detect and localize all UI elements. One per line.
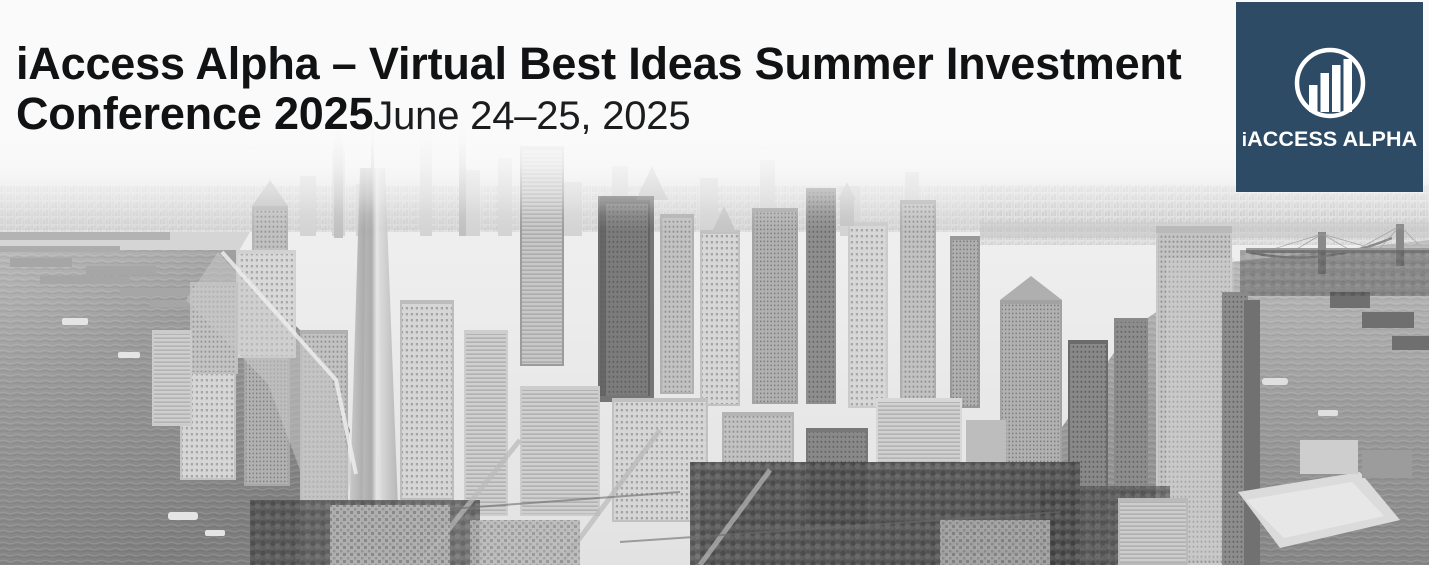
logo-wordmark: iACCESS ALPHA [1242, 127, 1418, 152]
logo-wordmark-rest: ACCESS ALPHA [1247, 127, 1417, 151]
title-line-2: Conference 2025 [16, 88, 373, 139]
page-title: iAccess Alpha – Virtual Best Ideas Summe… [16, 42, 1196, 136]
circular-bar-chart-icon [1290, 43, 1370, 123]
conference-dates: June 24–25, 2025 [373, 94, 690, 138]
iaccess-alpha-logo[interactable]: iACCESS ALPHA [1236, 2, 1423, 192]
title-line-1: iAccess Alpha – Virtual Best Ideas Summe… [16, 42, 1196, 86]
conference-banner: iAccess Alpha – Virtual Best Ideas Summe… [0, 0, 1429, 565]
